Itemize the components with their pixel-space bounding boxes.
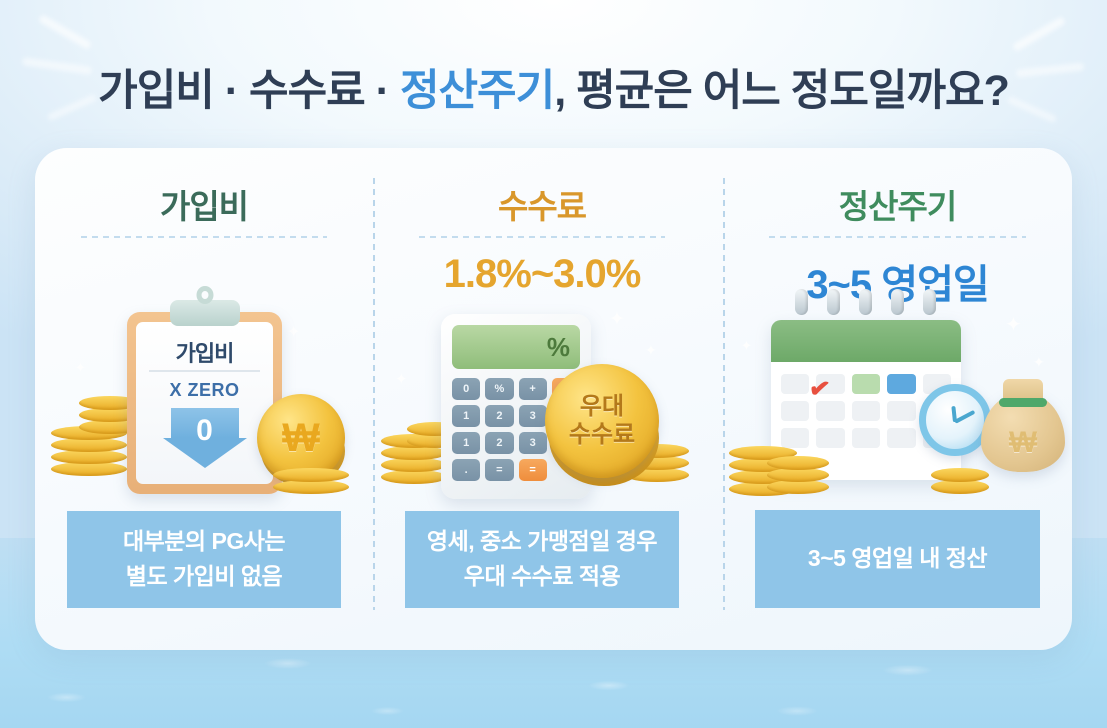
calculator-key: 2 [485,405,513,427]
caption-line: 영세, 중소 가맹점일 경우 [411,524,673,560]
calculator-key: 1 [452,432,480,454]
caption-commission: 영세, 중소 가맹점일 경우 우대 수수료 적용 [405,511,679,608]
clipboard-rule [149,370,260,372]
sparkle-icon: ✦ [75,360,86,376]
coin-stack-cal-right [931,460,989,496]
column-settlement-cycle: 정산주기 3~5 영업일 ✦ ✦ ✦ [723,148,1072,650]
title-part-1: 가입비 · 수수료 · [98,67,400,115]
column-header-signup-fee: 가입비 [35,180,373,228]
calculator-key: 3 [519,432,547,454]
clipboard-title: 가입비 [127,336,282,368]
illustration-calendar: ✦ ✦ ✦ [723,298,1072,508]
calculator-screen-value: % [547,332,570,363]
caption-signup-fee: 대부분의 PG사는 별도 가입비 없음 [67,511,341,608]
calendar-cell [852,428,880,448]
sparkle-icon: ✦ [287,322,300,342]
illustration-clipboard: ✦ ✦ 가입비 X ZERO [35,298,373,508]
calculator-key: 1 [452,405,480,427]
column-header-commission: 수수료 [373,180,711,228]
calculator-key-equals: = [519,459,547,481]
calculator-key: = [485,459,513,481]
sparkle-icon: ✦ [645,342,657,359]
benefit-coin: 우대 수수료 [545,364,659,478]
content-card: 가입비 ✦ ✦ 가입비 [35,148,1072,650]
calendar-cell [781,401,809,421]
title-part-2: , 평균은 어느 정도일까요? [554,67,1009,115]
sparkle-icon: ✦ [395,370,408,388]
sparkle-icon: ✦ [741,338,752,354]
clipboard-zero-label: X ZERO [127,380,282,401]
caption-line: 우대 수수료 적용 [411,559,673,595]
calendar-cell [887,428,915,448]
calendar-cell [887,401,915,421]
column-value-commission: 1.8%~3.0% [373,252,711,297]
benefit-coin-line: 우대 [580,393,624,421]
sparkle-icon: ✦ [1033,354,1045,371]
calendar-cell-blue [887,374,915,394]
calendar-header [771,320,961,362]
calendar-cell [781,374,809,394]
caption-line: 별도 가입비 없음 [73,559,335,595]
illustration-calculator: ✦ ✦ ✦ % 0 % + [373,298,711,508]
calculator-key: % [485,378,513,400]
caption-line: 대부분의 PG사는 [73,524,335,560]
column-commission: 수수료 1.8%~3.0% ✦ ✦ ✦ % [373,148,711,650]
arrow-value: 0 [163,414,247,448]
header-divider-1 [81,236,327,238]
column-signup-fee: 가입비 ✦ ✦ 가입비 [35,148,373,650]
clipboard-ring [196,286,213,304]
title-accent: 정산주기 [400,67,554,115]
calendar-cell [816,428,844,448]
coin-stack-cal-mid [767,450,829,494]
money-bag-icon: ₩ [981,394,1065,472]
check-mark-icon: ✔ [807,373,832,406]
calculator-screen: % [452,325,580,369]
page-title: 가입비 · 수수료 · 정산주기, 평균은 어느 정도일까요? [0,56,1107,118]
coin-stack-right [273,468,349,496]
caption-line: 3~5 영업일 내 정산 [761,541,1034,577]
benefit-coin-line: 수수료 [569,421,635,449]
header-divider-3 [769,236,1026,238]
money-bag-symbol: ₩ [1009,426,1037,460]
calendar-cell [852,401,880,421]
calculator-key: 2 [485,432,513,454]
column-header-settlement-cycle: 정산주기 [723,180,1072,228]
calculator-key: 3 [519,405,547,427]
won-symbol: ₩ [282,416,320,461]
calendar-cell-green [852,374,880,394]
caption-settlement-cycle: 3~5 영업일 내 정산 [755,510,1040,608]
calculator-key: + [519,378,547,400]
calculator-key: 0 [452,378,480,400]
calculator-key: . [452,459,480,481]
sparkle-icon: ✦ [1005,312,1022,337]
down-arrow-icon: 0 [163,408,247,470]
sparkle-icon: ✦ [609,308,625,331]
header-divider-2 [419,236,665,238]
clipboard-graphic: 가입비 X ZERO 0 [127,312,282,494]
